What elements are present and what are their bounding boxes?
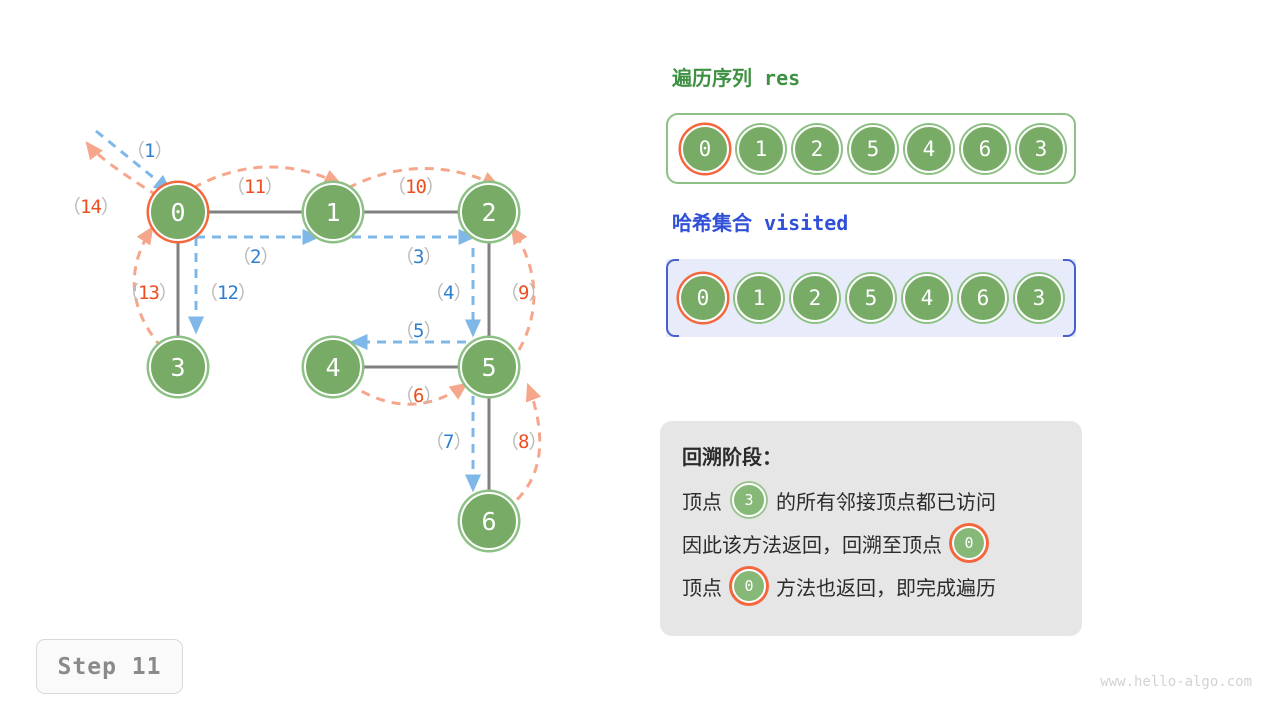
visited-cell-4: 4 xyxy=(903,274,951,322)
visited-title: 哈希集合 visited xyxy=(672,207,848,236)
watermark: www.hello-algo.com xyxy=(1100,674,1252,690)
info-line-3: 顶点 0 方法也返回，即完成遍历 xyxy=(682,569,1060,603)
visited-cell-0: 0 xyxy=(679,274,727,322)
res-cell-1: 1 xyxy=(737,125,785,173)
step-label-7: （7） xyxy=(425,427,471,454)
graph-node-3[interactable]: 3 xyxy=(149,338,207,396)
step-indicator: Step 11 xyxy=(36,639,183,694)
res-cell-4: 4 xyxy=(905,125,953,173)
step-label-2: （2） xyxy=(232,242,278,269)
info-line-2-pre: 因此该方法返回，回溯至顶点 xyxy=(682,529,942,558)
step-label-8: （8） xyxy=(500,427,546,454)
info-title: 回溯阶段： xyxy=(682,441,1060,470)
graph-node-2[interactable]: 2 xyxy=(460,183,518,241)
graph-edges-svg xyxy=(0,0,620,620)
res-array: 0125463 xyxy=(666,113,1076,184)
visited-set: 0125463 xyxy=(666,259,1076,337)
info-panel: 回溯阶段： 顶点 3 的所有邻接顶点都已访问 因此该方法返回，回溯至顶点 0 顶… xyxy=(660,421,1082,636)
step-label-4: （4） xyxy=(425,278,471,305)
graph-node-1[interactable]: 1 xyxy=(304,183,362,241)
step-label-9: （9） xyxy=(500,278,546,305)
visited-cell-3: 5 xyxy=(847,274,895,322)
info-line-3-pre: 顶点 xyxy=(682,572,722,601)
info-line-1: 顶点 3 的所有邻接顶点都已访问 xyxy=(682,483,1060,517)
step-label-6: （6） xyxy=(395,381,441,408)
graph-node-5[interactable]: 5 xyxy=(460,338,518,396)
graph-node-4[interactable]: 4 xyxy=(304,338,362,396)
step-label-11: （11） xyxy=(226,172,283,199)
graph-node-0[interactable]: 0 xyxy=(149,183,207,241)
step-label-14: （14） xyxy=(62,192,119,219)
visited-cell-2: 2 xyxy=(791,274,839,322)
step-label-3: （3） xyxy=(395,242,441,269)
step-label-1: （1） xyxy=(126,136,172,163)
res-title: 遍历序列 res xyxy=(672,62,800,91)
visited-cell-6: 3 xyxy=(1015,274,1063,322)
res-cell-3: 5 xyxy=(849,125,897,173)
info-badge-vertex-3: 3 xyxy=(732,483,766,517)
res-cell-5: 6 xyxy=(961,125,1009,173)
visited-cell-1: 1 xyxy=(735,274,783,322)
info-line-2: 因此该方法返回，回溯至顶点 0 xyxy=(682,526,1060,560)
right-panel: 遍历序列 res 0125463 哈希集合 visited 0125463 回溯… xyxy=(660,0,1280,720)
step-label-13: （13） xyxy=(120,278,177,305)
step-label-5: （5） xyxy=(395,316,441,343)
info-badge-vertex-0-a: 0 xyxy=(952,526,986,560)
graph-visualization: 0123456 （1）（2）（3）（4）（5）（6）（7）（8）（9）（10）（… xyxy=(0,0,620,620)
step-label-10: （10） xyxy=(387,172,444,199)
info-badge-vertex-0-b: 0 xyxy=(732,569,766,603)
res-cell-6: 3 xyxy=(1017,125,1065,173)
graph-node-6[interactable]: 6 xyxy=(460,492,518,550)
screenshot-root: 0123456 （1）（2）（3）（4）（5）（6）（7）（8）（9）（10）（… xyxy=(0,0,1280,720)
info-line-1-post: 的所有邻接顶点都已访问 xyxy=(776,486,996,515)
res-cell-2: 2 xyxy=(793,125,841,173)
info-line-1-pre: 顶点 xyxy=(682,486,722,515)
res-cell-0: 0 xyxy=(681,125,729,173)
info-line-3-post: 方法也返回，即完成遍历 xyxy=(776,572,996,601)
step-label-12: （12） xyxy=(199,278,256,305)
visited-cell-5: 6 xyxy=(959,274,1007,322)
